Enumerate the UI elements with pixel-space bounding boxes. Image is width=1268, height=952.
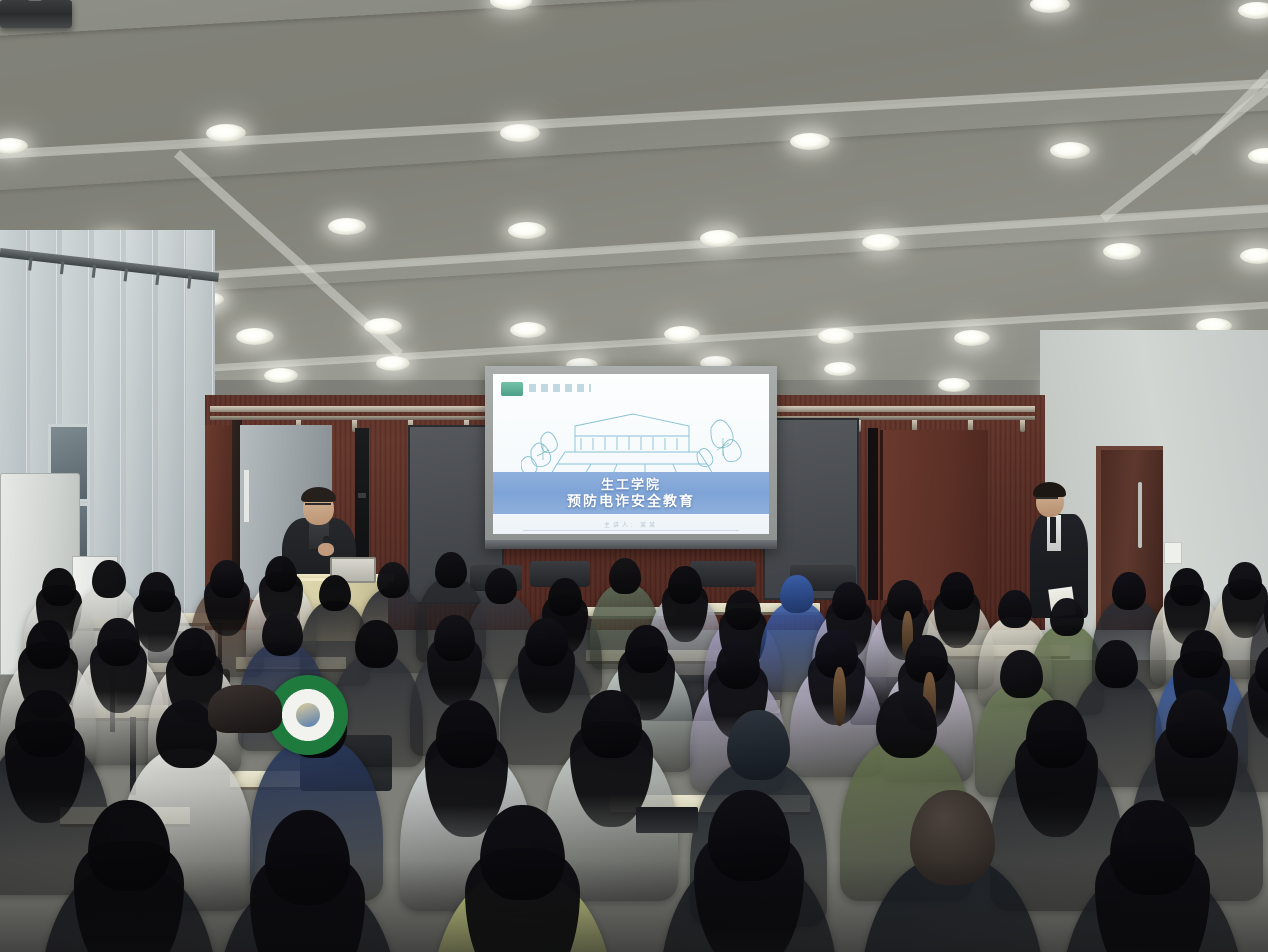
audience-member-head	[780, 575, 814, 613]
ceiling-downlight	[1240, 248, 1268, 264]
audience-member-head	[97, 618, 140, 666]
necktie	[1050, 517, 1056, 543]
jacket-logo-inner-mark	[296, 703, 320, 727]
audience-member-head	[832, 582, 866, 620]
audience-member-head	[716, 640, 760, 689]
audience-member-head	[377, 562, 409, 598]
audience-member-head	[1180, 630, 1223, 678]
audience-member-head	[1000, 650, 1043, 698]
audience-member-head	[15, 690, 75, 757]
audience-member-head	[940, 572, 974, 610]
ceiling-downlight	[264, 368, 298, 383]
audience-member-head	[1170, 568, 1204, 606]
ceiling-downlight	[818, 328, 854, 344]
ceiling-projector	[0, 0, 72, 28]
slide-title-line-2: 预防电诈安全教育	[493, 491, 769, 511]
audience-member-head	[485, 568, 517, 604]
ceiling-downlight	[376, 356, 410, 371]
ceiling-downlight	[510, 322, 546, 338]
ceiling-downlight	[938, 378, 970, 392]
audience-member-head	[42, 568, 76, 606]
audience-member-head	[998, 590, 1032, 628]
ceiling-downlight	[1050, 142, 1090, 159]
audience-member-head	[434, 615, 475, 661]
audience-member-head	[525, 618, 568, 666]
ceiling-downlight	[1238, 2, 1268, 19]
audience-member-head	[1112, 572, 1146, 610]
ceiling-downlight	[700, 230, 738, 247]
ceiling-downlight	[508, 222, 546, 239]
audience-member-head	[319, 575, 351, 611]
ceiling-downlight	[328, 218, 366, 235]
audience-member-head	[548, 578, 582, 616]
audience-member-head	[1026, 700, 1087, 768]
rail-peg	[1020, 420, 1025, 432]
ceiling-downlight	[824, 362, 856, 376]
audience-member-head	[210, 560, 244, 598]
foreground-shadow	[0, 860, 1268, 952]
audience-member-head	[173, 628, 216, 676]
audience-member-head	[355, 620, 398, 668]
ceiling-downlight	[790, 133, 830, 150]
audience-member-head	[1050, 598, 1084, 636]
slide-divider	[523, 530, 739, 531]
ceiling-downlight	[862, 234, 900, 251]
audience-member-head	[1166, 690, 1227, 758]
audience-member-head	[725, 590, 761, 630]
audience-member-head	[435, 552, 467, 588]
audience-member-head	[436, 700, 497, 768]
laptop-in-audience[interactable]	[636, 807, 698, 833]
door-handle-icon[interactable]	[1138, 482, 1142, 548]
audience-member-head	[668, 566, 702, 604]
ceiling-downlight	[954, 330, 990, 346]
ceiling-downlight	[664, 326, 700, 342]
ceiling-downlight	[236, 328, 274, 345]
backpack-on-desk	[208, 685, 282, 733]
door-handle-icon[interactable]	[244, 470, 249, 522]
school-logo-icon	[501, 382, 523, 396]
speaker-grill-icon	[358, 493, 366, 498]
ceiling-downlight	[364, 318, 402, 335]
audience-member-head	[262, 610, 303, 656]
audience-member-head	[1095, 640, 1138, 688]
presentation-slide: 生工学院 预防电诈安全教育 主讲人: 某某	[493, 374, 769, 534]
slide-header-text	[529, 384, 591, 392]
ceiling-downlight	[1103, 243, 1141, 260]
audience-member-head	[876, 690, 937, 758]
ceiling-downlight	[206, 124, 246, 142]
audience-member-head	[727, 710, 790, 780]
audience-member-head	[625, 625, 668, 673]
slide-subtitle: 主讲人: 某某	[493, 520, 769, 529]
audience-member-head	[139, 572, 175, 612]
audience-member-head	[581, 690, 642, 758]
glasses-icon	[305, 503, 331, 510]
campus-building-illustration-icon	[521, 404, 751, 476]
audience-member-head	[609, 558, 641, 594]
lecture-hall-photo: 生工学院 预防电诈安全教育 主讲人: 某某	[0, 0, 1268, 952]
audience-member-head	[26, 620, 70, 669]
glasses-icon	[1036, 497, 1058, 503]
audience-member-head	[265, 556, 297, 592]
ceiling-downlight	[500, 124, 540, 142]
